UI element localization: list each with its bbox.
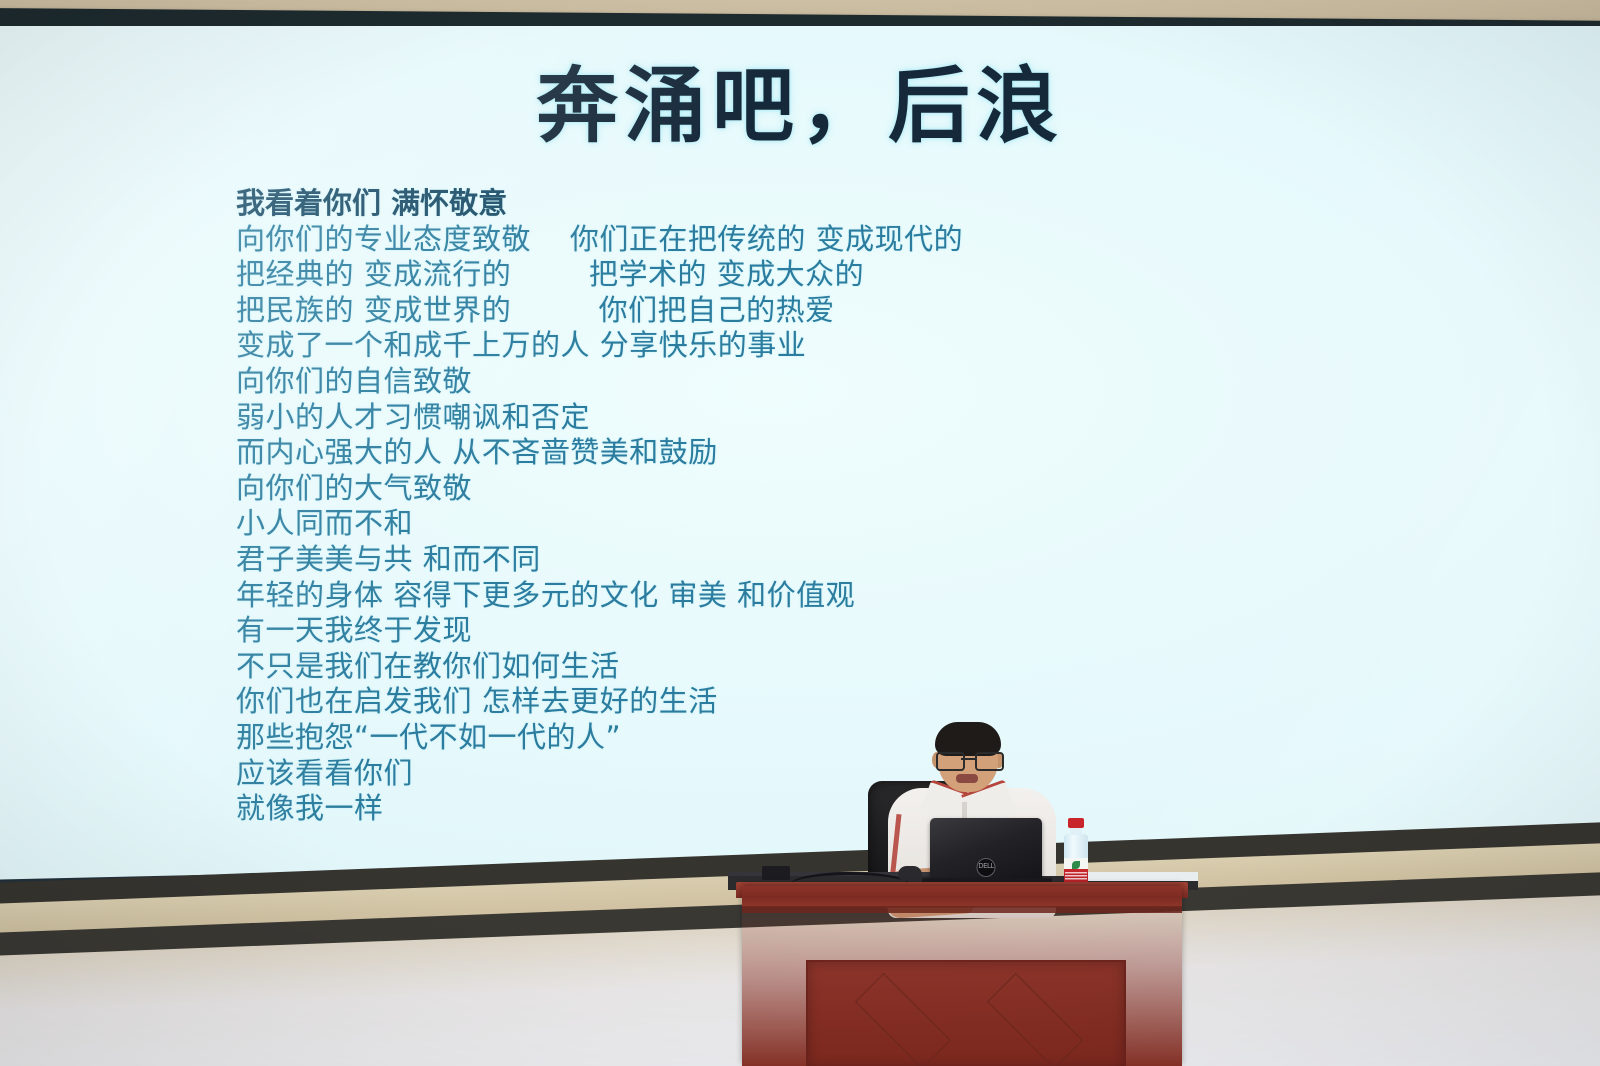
leaf-icon — [1072, 861, 1080, 869]
slide-title: 奔涌吧，后浪 — [0, 62, 1600, 152]
slide-line: 向你们的大气致敬 — [236, 471, 1386, 507]
slide-line: 把经典的 变成流行的 把学术的 变成大众的 — [236, 257, 1386, 293]
slide-body: 我看着你们 满怀敬意向你们的专业态度致敬 你们正在把传统的 变成现代的把经典的 … — [236, 186, 1386, 827]
water-bottle — [1063, 818, 1089, 886]
lens-left — [936, 752, 965, 771]
slide-line: 应该看看你们 — [236, 756, 1386, 792]
podium-panel — [806, 960, 1126, 1066]
computer-mouse — [898, 866, 922, 881]
slide-line: 变成了一个和成千上万的人 分享快乐的事业 — [236, 328, 1386, 364]
slide-line: 弱小的人才习惯嘲讽和否定 — [236, 400, 1386, 436]
podium-diamond-right — [987, 973, 1083, 1066]
slide-line: 把民族的 变成世界的 你们把自己的热爱 — [236, 293, 1386, 329]
projection-screen: 奔涌吧，后浪 我看着你们 满怀敬意向你们的专业态度致敬 你们正在把传统的 变成现… — [0, 26, 1600, 892]
mouth — [956, 774, 978, 783]
slide-line: 我看着你们 满怀敬意 — [236, 186, 1386, 222]
podium-diamond-left — [855, 973, 951, 1066]
glasses-icon — [936, 752, 1000, 767]
lens-right — [975, 752, 1004, 771]
slide-line: 不只是我们在教你们如何生活 — [236, 649, 1386, 685]
podium — [742, 886, 1182, 1066]
laptop: DELL — [930, 818, 1042, 884]
podium-rail — [742, 906, 1182, 913]
slide-line: 你们也在启发我们 怎样去更好的生活 — [236, 684, 1386, 720]
slide-line: 有一天我终于发现 — [236, 613, 1386, 649]
bottle-cap — [1068, 818, 1084, 828]
slide-line: 向你们的自信致敬 — [236, 364, 1386, 400]
desk-device — [762, 866, 790, 880]
photo-scene: 奔涌吧，后浪 我看着你们 满怀敬意向你们的专业态度致敬 你们正在把传统的 变成现… — [0, 0, 1600, 1066]
slide-line: 君子美美与共 和而不同 — [236, 542, 1386, 578]
bottle-neck — [1070, 828, 1082, 835]
slide-line: 年轻的身体 容得下更多元的文化 审美 和价值观 — [236, 578, 1386, 614]
slide-line: 就像我一样 — [236, 791, 1386, 827]
hair — [935, 722, 1001, 756]
slide-line: 小人同而不和 — [236, 506, 1386, 542]
desk-paper — [1088, 872, 1198, 881]
glasses-bridge — [961, 758, 975, 760]
slide-line: 那些抱怨“一代不如一代的人” — [236, 720, 1386, 756]
bottle-label-text — [1065, 872, 1087, 880]
dell-logo-icon: DELL — [977, 858, 996, 877]
slide-line: 向你们的专业态度致敬 你们正在把传统的 变成现代的 — [236, 222, 1386, 258]
slide-line: 而内心强大的人 从不吝啬赞美和鼓励 — [236, 435, 1386, 471]
